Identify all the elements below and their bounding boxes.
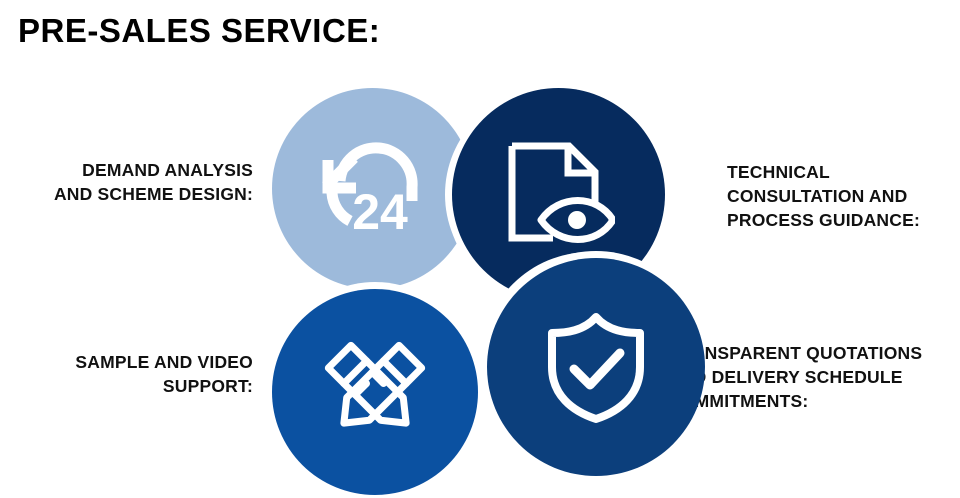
24-hour-text: 24	[352, 184, 408, 240]
label-sample-video-support: SAMPLE AND VIDEO SUPPORT:	[10, 350, 253, 398]
circle-transparent-quotations	[487, 258, 705, 476]
infographic-canvas: PRE-SALES SERVICE: DEMAND ANALYSIS AND S…	[0, 0, 960, 498]
label-line: SAMPLE AND VIDEO	[10, 350, 253, 374]
label-demand-analysis: DEMAND ANALYSIS AND SCHEME DESIGN:	[10, 158, 253, 206]
24-hour-rotate-icon: 24	[314, 135, 432, 243]
label-line: SUPPORT:	[10, 374, 253, 398]
label-line: TRANSPARENT QUOTATIONS	[668, 341, 960, 365]
label-line: AND DELIVERY SCHEDULE	[668, 365, 960, 389]
document-eye-icon	[503, 140, 615, 250]
page-title: PRE-SALES SERVICE:	[18, 12, 380, 50]
crossed-pencils-icon	[317, 336, 433, 448]
circle-demand-analysis: 24	[272, 88, 473, 289]
label-line: DEMAND ANALYSIS	[10, 158, 253, 182]
label-transparent-quotations: TRANSPARENT QUOTATIONS AND DELIVERY SCHE…	[668, 341, 960, 413]
checkmark-icon	[574, 353, 620, 385]
label-line: PROCESS GUIDANCE:	[727, 208, 959, 232]
label-line: COMMITMENTS:	[668, 389, 960, 413]
label-line: AND SCHEME DESIGN:	[10, 182, 253, 206]
shield-check-icon	[544, 311, 648, 423]
label-line: TECHNICAL	[727, 160, 959, 184]
label-technical-consultation: TECHNICAL CONSULTATION AND PROCESS GUIDA…	[727, 160, 959, 232]
eye-pupil	[568, 211, 586, 229]
circle-sample-video-support	[272, 289, 478, 495]
label-line: CONSULTATION AND	[727, 184, 959, 208]
